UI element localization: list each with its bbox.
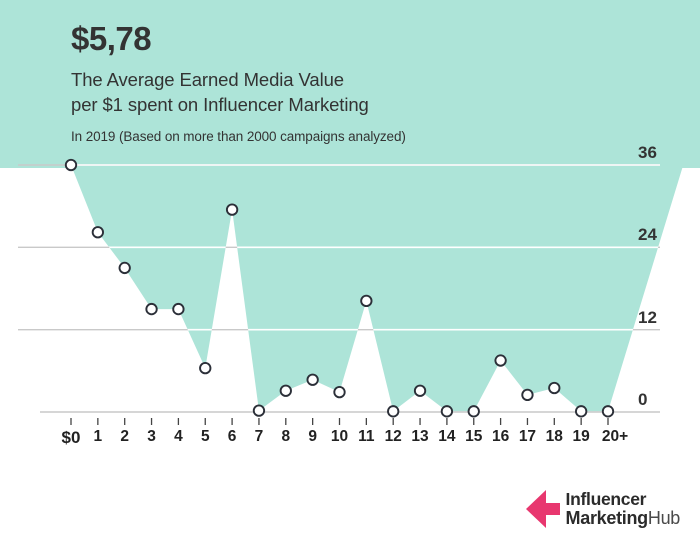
data-point-marker[interactable] xyxy=(93,227,103,237)
x-axis-tick-label: 16 xyxy=(492,428,509,446)
area-fill xyxy=(0,0,700,411)
data-point-marker[interactable] xyxy=(173,304,183,314)
data-point-marker[interactable] xyxy=(254,405,264,415)
logo-line-2-light: Hub xyxy=(648,508,680,528)
x-axis-tick-label: 20+ xyxy=(602,428,628,446)
left-arrow-mark-icon xyxy=(526,490,560,528)
logo-line-2-bold: Marketing xyxy=(566,508,648,528)
infographic-canvas: $5,78 The Average Earned Media Value per… xyxy=(0,0,700,542)
brand-logo: Influencer MarketingHub xyxy=(526,490,680,528)
x-axis-tick-label: 15 xyxy=(465,428,482,446)
data-point-marker[interactable] xyxy=(576,406,586,416)
x-axis-tick-label: 18 xyxy=(546,428,563,446)
data-point-marker[interactable] xyxy=(361,296,371,306)
data-point-marker[interactable] xyxy=(388,406,398,416)
data-point-marker[interactable] xyxy=(442,406,452,416)
logo-line-2: MarketingHub xyxy=(566,509,680,527)
headline-line-1: The Average Earned Media Value xyxy=(71,68,369,93)
data-point-marker[interactable] xyxy=(281,386,291,396)
page-subtitle: In 2019 (Based on more than 2000 campaig… xyxy=(71,129,406,144)
x-axis-tick-label: 9 xyxy=(308,428,317,446)
logo-wordmark: Influencer MarketingHub xyxy=(566,491,680,528)
headline-line-2: per $1 spent on Influencer Marketing xyxy=(71,93,369,118)
data-point-marker[interactable] xyxy=(66,160,76,170)
x-axis-tick-label: 1 xyxy=(94,428,103,446)
x-axis-tick-label: 12 xyxy=(385,428,402,446)
data-point-marker[interactable] xyxy=(415,386,425,396)
x-axis-tick-label: 8 xyxy=(281,428,290,446)
x-axis-tick-label: 4 xyxy=(174,428,183,446)
x-axis-tick-label: 14 xyxy=(438,428,455,446)
data-point-marker[interactable] xyxy=(495,355,505,365)
data-point-marker[interactable] xyxy=(522,390,532,400)
data-point-marker[interactable] xyxy=(549,383,559,393)
x-axis-tick-label: 6 xyxy=(228,428,237,446)
data-point-marker[interactable] xyxy=(120,263,130,273)
x-axis-tick-label: 17 xyxy=(519,428,536,446)
data-point-marker[interactable] xyxy=(307,375,317,385)
x-axis-tick-label: 11 xyxy=(358,428,374,446)
data-point-marker[interactable] xyxy=(146,304,156,314)
x-axis-tick-label: 13 xyxy=(411,428,428,446)
data-point-marker[interactable] xyxy=(603,406,613,416)
y-axis-tick-label: 24 xyxy=(638,225,678,245)
x-axis-tick-label: 7 xyxy=(255,428,264,446)
y-axis-tick-label: 36 xyxy=(638,143,678,163)
y-axis-tick-label: 12 xyxy=(638,308,678,328)
x-axis-tick-label: 10 xyxy=(331,428,348,446)
data-point-marker[interactable] xyxy=(200,363,210,373)
x-axis-tick-label: 3 xyxy=(147,428,156,446)
x-axis-tick-label: 2 xyxy=(120,428,129,446)
x-axis-tick-label: 19 xyxy=(573,428,590,446)
logo-line-1: Influencer xyxy=(566,491,680,509)
x-axis-tick-label: $0 xyxy=(62,428,81,448)
page-title: The Average Earned Media Value per $1 sp… xyxy=(71,68,369,117)
data-point-marker[interactable] xyxy=(334,387,344,397)
y-axis-tick-label: 0 xyxy=(638,390,678,410)
data-point-marker[interactable] xyxy=(227,204,237,214)
data-point-marker[interactable] xyxy=(469,406,479,416)
x-axis-tick-label: 5 xyxy=(201,428,210,446)
kpi-value: $5,78 xyxy=(71,22,151,55)
